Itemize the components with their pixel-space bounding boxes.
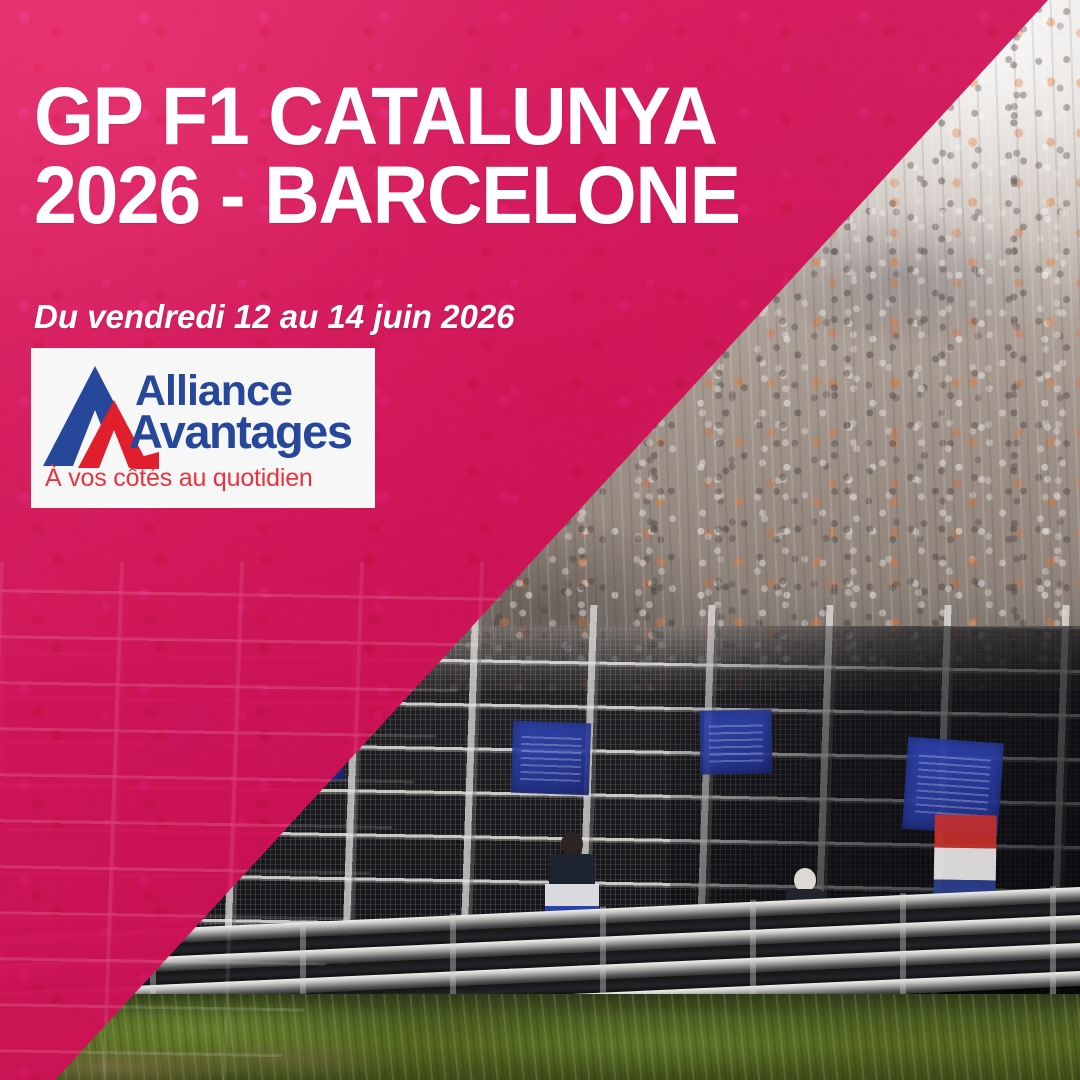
headline-line-2: 2026 - BARCELONE — [34, 157, 740, 236]
logo-word-avantages: Avantages — [129, 408, 351, 455]
poster-content: GP F1 CATALUNYA 2026 - BARCELONE Du vend… — [0, 0, 1080, 1080]
logo-inner: Alliance Avantages À vos côtés au quotid… — [31, 348, 375, 508]
event-dates: Du vendredi 12 au 14 juin 2026 — [34, 298, 515, 336]
poster-canvas: GP F1 CATALUNYA 2026 - BARCELONE Du vend… — [0, 0, 1080, 1080]
logo-red-a-counter — [99, 430, 129, 468]
alliance-avantages-logo: Alliance Avantages À vos côtés au quotid… — [31, 348, 375, 508]
logo-tagline: À vos côtés au quotidien — [45, 466, 313, 491]
page-title: GP F1 CATALUNYA 2026 - BARCELONE — [34, 78, 740, 235]
headline-line-1: GP F1 CATALUNYA — [34, 78, 740, 157]
